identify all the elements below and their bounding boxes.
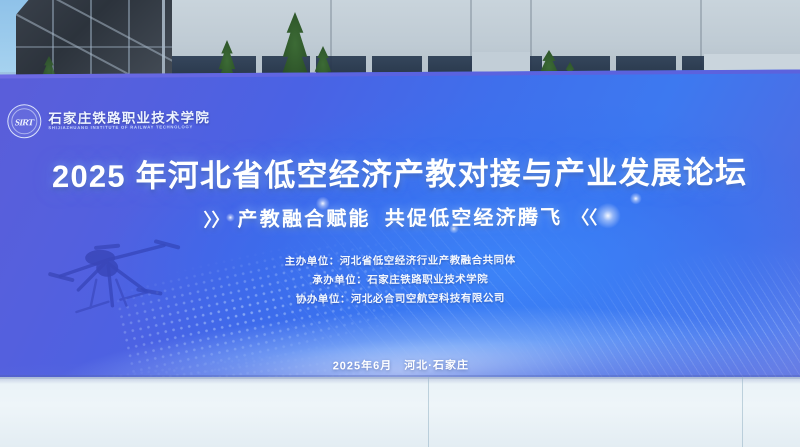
subtitle-phrase-2: 共促低空经济腾飞: [385, 207, 563, 230]
floor-seam: [428, 377, 429, 447]
logo-name-cn: 石家庄铁路职业技术学院: [48, 111, 210, 125]
organizer-coorganizer: 协办单位：河北必合司空航空科技有限公司: [296, 291, 505, 308]
banner-drop-shadow: [0, 375, 800, 384]
glass-transom: [16, 46, 172, 48]
subtitle-phrase-1: 产教融合赋能: [237, 208, 370, 231]
institution-logo: SIRT 石家庄铁路职业技术学院 SHIJIAZHUANG INSTITUTE …: [7, 103, 210, 138]
organizer-list: 主办单位：河北省低空经济行业产教融合共同体 承办单位：石家庄铁路职业技术学院 协…: [0, 252, 800, 310]
banner-title: 2025 年河北省低空经济产教对接与产业发展论坛: [0, 157, 800, 193]
logo-name-en: SHIJIAZHUANG INSTITUTE OF RAILWAY TECHNO…: [48, 125, 210, 130]
glass-mullion: [90, 0, 92, 82]
logo-text-block: 石家庄铁路职业技术学院 SHIJIAZHUANG INSTITUTE OF RA…: [48, 111, 210, 131]
event-banner: SIRT 石家庄铁路职业技术学院 SHIJIAZHUANG INSTITUTE …: [0, 70, 800, 397]
organizer-undertaker: 承办单位：石家庄铁路职业技术学院: [312, 272, 488, 289]
floor-seam: [742, 377, 743, 447]
organizer-host: 主办单位：河北省低空经济行业产教融合共同体: [285, 253, 516, 270]
glass-curtain-wall: [16, 0, 172, 82]
seal-icon: SIRT: [7, 104, 41, 138]
floor-below-banner: [0, 377, 800, 447]
seal-monogram: SIRT: [14, 117, 35, 127]
chevron-left-icon: 〈〈: [571, 208, 596, 228]
glass-mullion: [162, 0, 165, 82]
glass-mullion: [128, 0, 130, 82]
screenshot-root: SIRT 石家庄铁路职业技术学院 SHIJIAZHUANG INSTITUTE …: [0, 0, 800, 447]
chevron-right-icon: 〉〉: [203, 210, 228, 230]
